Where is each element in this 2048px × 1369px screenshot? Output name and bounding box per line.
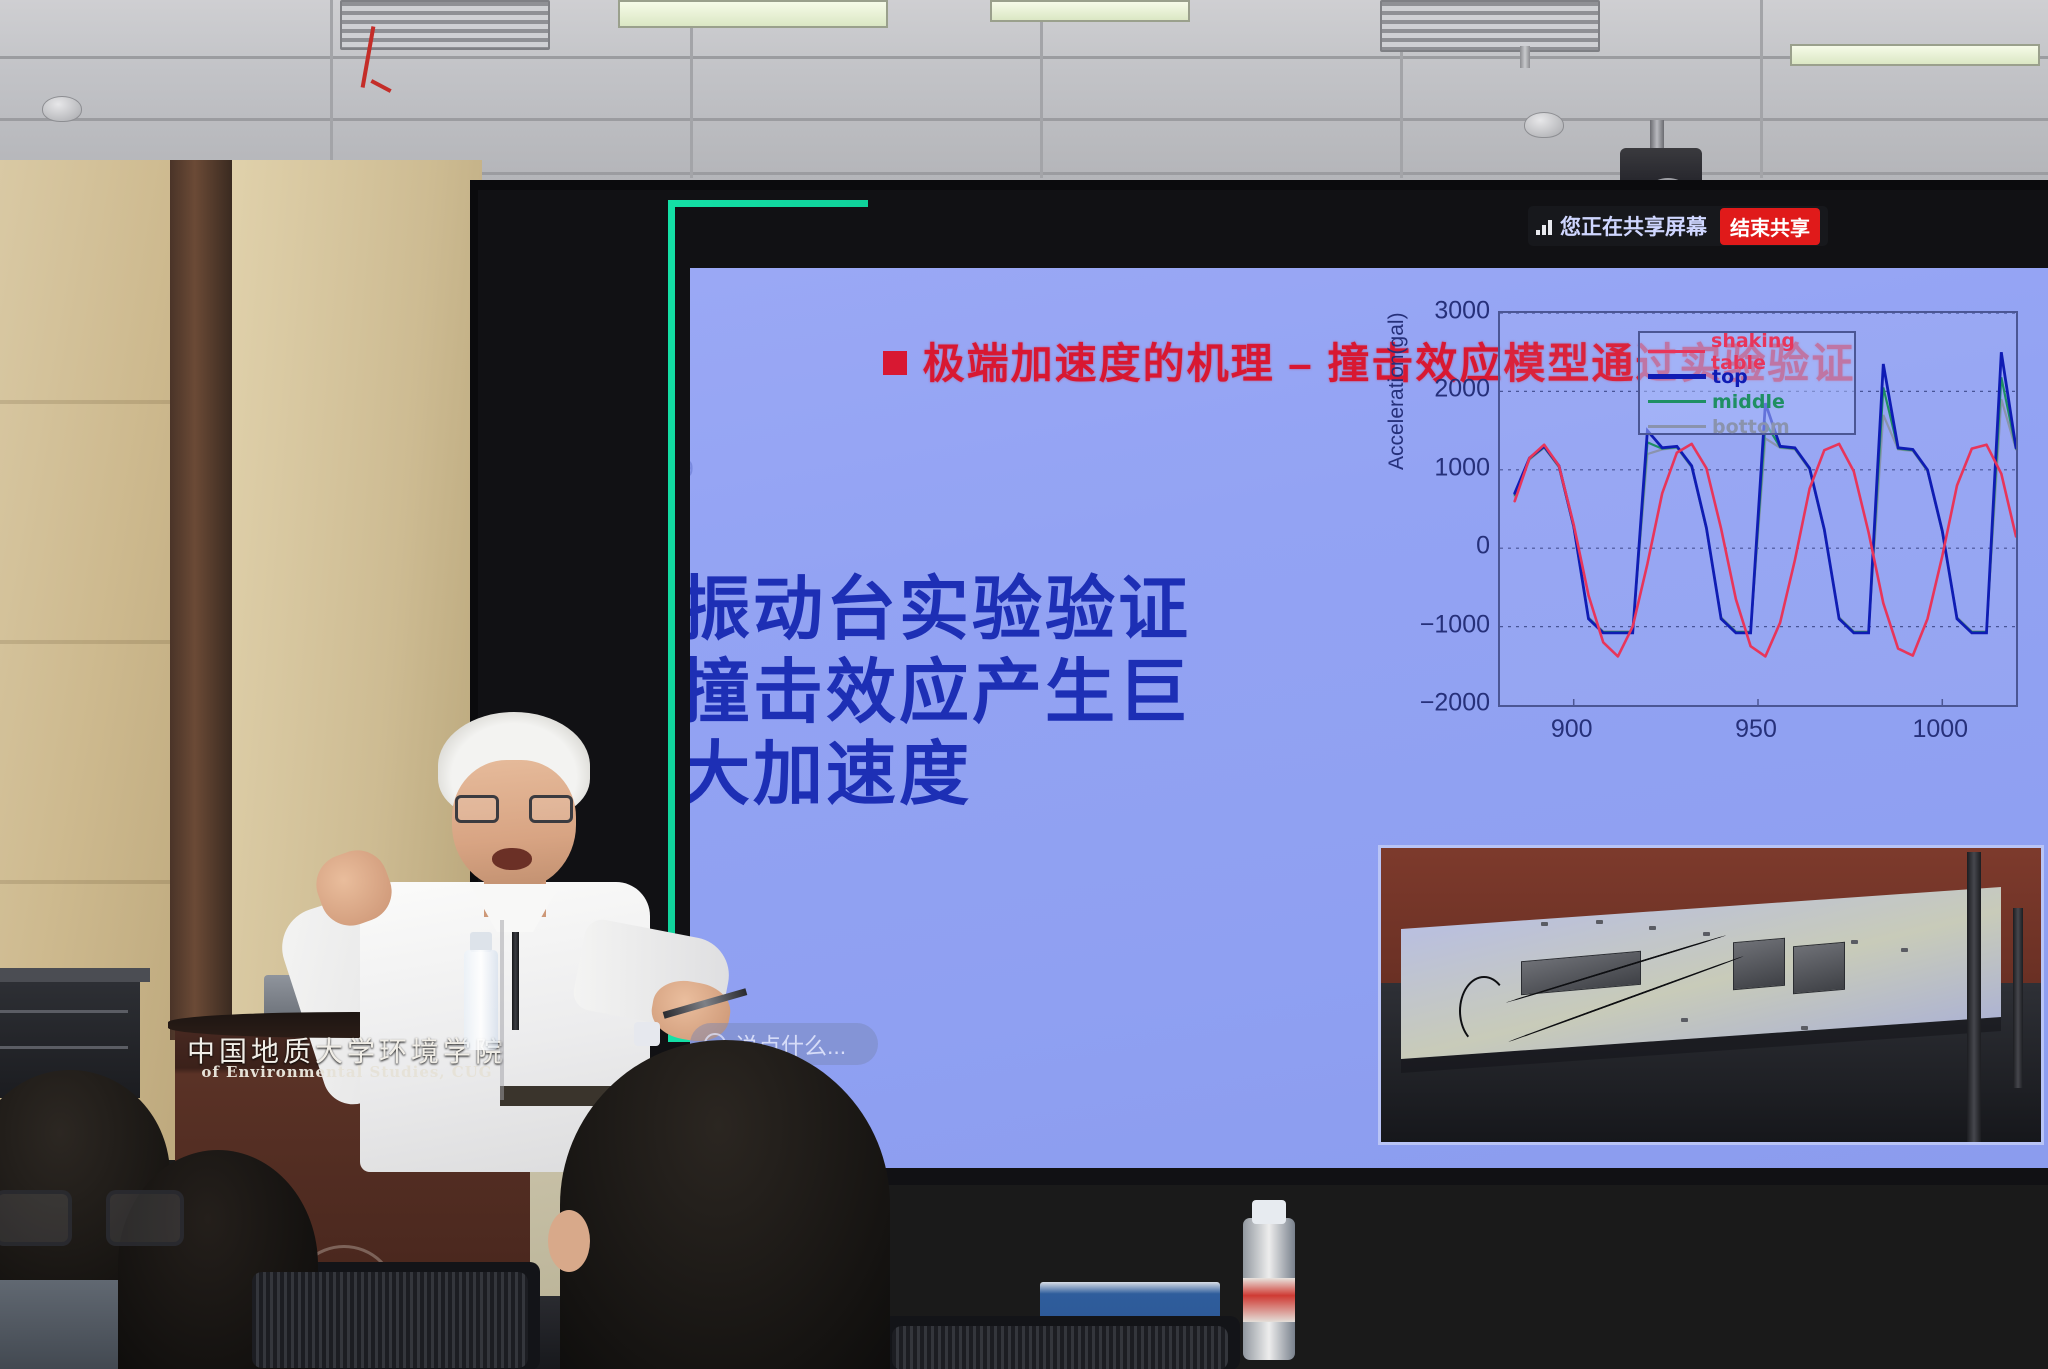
av-rack-surface: [0, 968, 150, 982]
ceiling-speaker-icon: [42, 96, 82, 122]
slide-body-line: 撞击效应产生巨: [690, 651, 1240, 734]
legend-swatch: [1648, 400, 1706, 403]
air-vent: [1380, 0, 1600, 52]
ceiling-light: [1790, 44, 2040, 66]
shaking-table-experiment-photo: [1378, 845, 2044, 1145]
chart-legend: shaking table top middle bottom: [1638, 331, 1856, 435]
legend-swatch: [1648, 374, 1706, 379]
ui-corner-bracket: [668, 200, 675, 1040]
audience-member-ear: [548, 1210, 590, 1272]
wall-column: [170, 160, 232, 1040]
chart-x-tick: 900: [1551, 715, 1593, 744]
audience-chair-mesh: [892, 1326, 1228, 1369]
audience-bottle-label: [1243, 1278, 1295, 1322]
photo-specimen-block: [1793, 942, 1845, 995]
chart-y-tick: −1000: [1420, 610, 1490, 639]
chart-y-tick: 0: [1476, 532, 1490, 561]
legend-item: middle: [1648, 389, 1854, 414]
wall-seam: [0, 640, 170, 644]
presentation-slide: 19 极端加速度的机理 – 撞击效应模型通过实验验证 振动台实验验证 撞击效应产…: [690, 268, 2048, 1168]
ceiling-grid-line: [0, 118, 2048, 121]
water-bottle-cap: [470, 932, 492, 952]
audience-chair-mesh: [252, 1272, 528, 1368]
eyeglasses-icon: [0, 1190, 184, 1270]
ceiling-grid-line: [330, 0, 333, 178]
chart-x-tick: 1000: [1912, 715, 1968, 744]
photo-sensor-cable: [1459, 976, 1509, 1046]
wall-seam: [0, 880, 170, 884]
wall-seam: [0, 400, 170, 404]
chart-y-tick: −2000: [1420, 689, 1490, 718]
share-status-text: 您正在共享屏幕: [1560, 211, 1707, 241]
speaker-face: [452, 760, 576, 890]
audience-bottle-cap: [1252, 1200, 1286, 1224]
speaker-mouth: [492, 848, 532, 870]
eyeglasses-icon: [455, 795, 573, 825]
water-bottle: [464, 950, 498, 1050]
slide-number: 19: [690, 456, 695, 484]
ceiling-speaker-icon: [1524, 112, 1564, 138]
acceleration-chart: Acceleration(gal) 3000200010000−1000−200…: [1380, 303, 2040, 803]
chart-y-tick: 3000: [1434, 297, 1490, 326]
legend-swatch: [1648, 425, 1706, 428]
chart-plot-area: shaking table top middle bottom: [1498, 311, 2018, 707]
chart-y-axis-ticks: 3000200010000−1000−2000: [1404, 303, 1490, 695]
audience-member-head: [560, 1040, 890, 1369]
fire-sprinkler-icon: [1520, 46, 1530, 68]
photo-specimen-block: [1733, 938, 1785, 991]
screen-share-toolbar[interactable]: 您正在共享屏幕 结束共享: [1528, 206, 1828, 246]
legend-item: shaking table: [1648, 339, 1854, 364]
slide-body-line: 振动台实验验证: [690, 568, 1240, 651]
wristwatch-icon: [634, 1022, 660, 1046]
ceiling-grid-line: [1040, 0, 1043, 178]
legend-swatch: [1648, 350, 1705, 353]
chart-y-tick: 2000: [1434, 375, 1490, 404]
slide-body-line: 大加速度: [690, 733, 1240, 816]
speaker-shirt-placket: [500, 920, 504, 1100]
legend-item: bottom: [1648, 414, 1854, 439]
signal-bars-icon: [1536, 218, 1552, 235]
ceiling-light: [990, 0, 1190, 22]
slide-body-text: 振动台实验验证 撞击效应产生巨 大加速度: [690, 568, 1240, 816]
podium-institution-english: of Environmental Studies, CUG: [182, 1063, 512, 1081]
chart-x-axis-ticks: 9009501000: [1498, 715, 2018, 755]
legend-label: bottom: [1712, 416, 1790, 438]
legend-label: top: [1712, 366, 1748, 388]
chart-x-tick: 950: [1735, 715, 1777, 744]
photo-frame-post: [1967, 852, 1981, 1142]
ceiling-grid-line: [0, 56, 2048, 59]
ceiling-grid-line: [1760, 0, 1763, 178]
ceiling: [0, 0, 2048, 180]
ui-corner-bracket: [668, 200, 868, 207]
bullet-square-icon: [883, 351, 907, 375]
legend-label: middle: [1712, 391, 1785, 413]
ceiling-light: [618, 0, 888, 28]
end-share-button[interactable]: 结束共享: [1720, 208, 1820, 245]
chart-y-tick: 1000: [1434, 453, 1490, 482]
photo-frame-post: [2013, 908, 2023, 1088]
lecture-room-screenshot: 19 极端加速度的机理 – 撞击效应模型通过实验验证 振动台实验验证 撞击效应产…: [0, 0, 2048, 1369]
